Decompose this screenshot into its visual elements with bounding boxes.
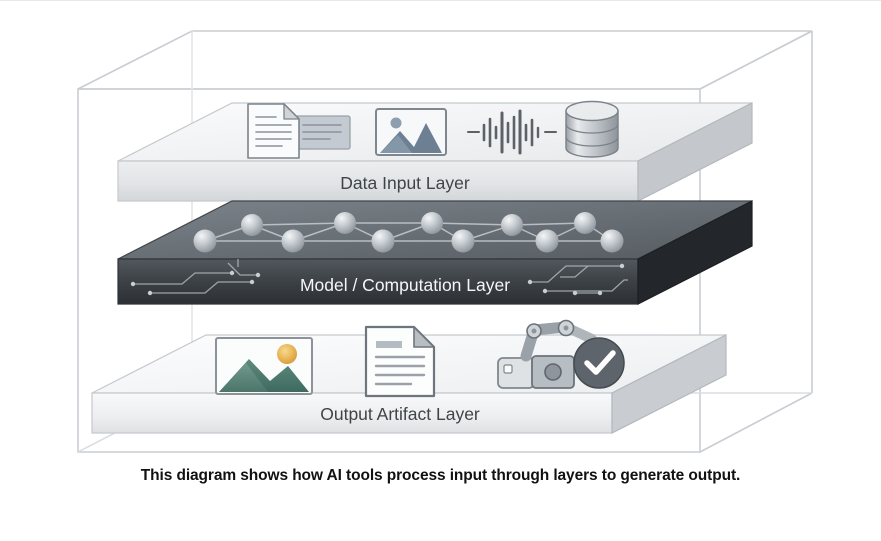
database-icon[interactable] [566, 102, 618, 158]
layer-label-output-artifact: Output Artifact Layer [320, 404, 480, 424]
layer-label-model-computation: Model / Computation Layer [300, 275, 510, 295]
diagram-stage: Data Input Layer [0, 1, 881, 461]
text-document-icon[interactable] [366, 327, 434, 396]
layer-label-data-input: Data Input Layer [340, 173, 470, 193]
check-badge-icon[interactable] [574, 338, 624, 388]
diagram-caption: This diagram shows how AI tools process … [0, 467, 881, 485]
diagram-canvas: Data Input Layer [0, 0, 881, 541]
image-icon[interactable] [376, 109, 446, 155]
document-icon[interactable] [248, 104, 299, 158]
landscape-image-icon[interactable] [216, 338, 312, 394]
layered-architecture-illustration: Data Input Layer [0, 1, 881, 461]
text-card-icon[interactable] [295, 116, 350, 149]
